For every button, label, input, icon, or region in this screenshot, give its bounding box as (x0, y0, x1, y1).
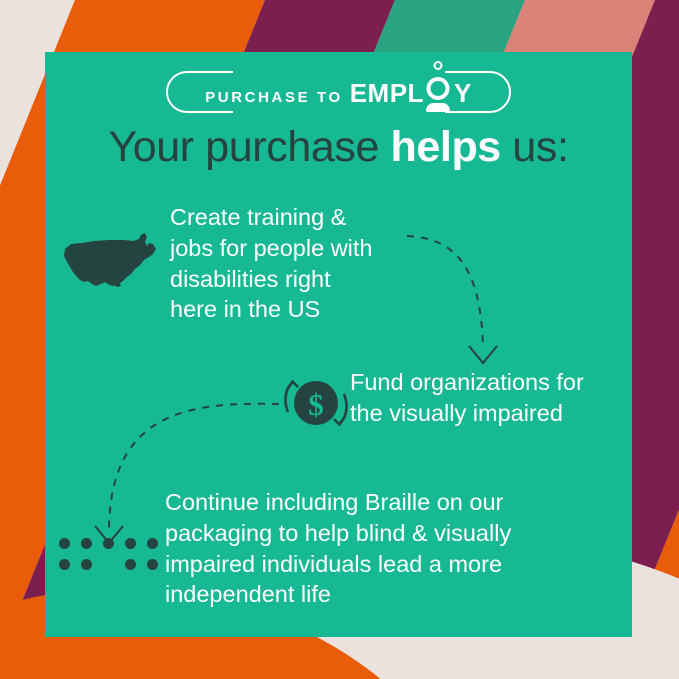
benefit-text-training-jobs: Create training & jobs for people with d… (170, 202, 372, 325)
person-head-icon (433, 61, 442, 70)
purchase-to-employ-logo: PURCHASE TO EMPL Y (166, 71, 511, 113)
braille-dot (81, 559, 92, 570)
benefit-text-braille-packaging: Continue including Braille on our packag… (165, 487, 511, 610)
us-map-icon (61, 232, 161, 294)
braille-dots-icon (59, 538, 163, 580)
person-body-icon (426, 77, 449, 100)
braille-dot (59, 538, 70, 549)
promotional-graphic: PURCHASE TO EMPL Y Your purchase helps u… (0, 0, 679, 679)
money-circulation-icon: $ (280, 374, 352, 432)
logo-big-prefix: EMPL (350, 78, 424, 109)
heading-highlight: helps (391, 123, 501, 171)
benefit-text-fund-organizations: Fund organizations for the visually impa… (350, 367, 584, 429)
logo-text: PURCHASE TO EMPL Y (205, 76, 472, 109)
svg-text:$: $ (308, 387, 324, 422)
braille-dot (147, 559, 158, 570)
person-base-icon (426, 103, 450, 112)
logo-big-suffix: Y (454, 78, 472, 109)
teal-content-card: PURCHASE TO EMPL Y Your purchase helps u… (45, 52, 632, 637)
heading-suffix: us: (501, 123, 569, 171)
logo-small-text: PURCHASE TO (205, 89, 343, 106)
braille-dot (125, 538, 136, 549)
braille-dot (81, 538, 92, 549)
logo-container: PURCHASE TO EMPL Y (45, 71, 632, 113)
braille-dot (103, 538, 114, 549)
heading-prefix: Your purchase (108, 123, 390, 171)
braille-dot (147, 538, 158, 549)
arrow-to-money-icon (405, 230, 515, 380)
page-title: Your purchase helps us: (45, 123, 632, 172)
person-icon (425, 76, 451, 102)
braille-dot (59, 559, 70, 570)
braille-dot (125, 559, 136, 570)
